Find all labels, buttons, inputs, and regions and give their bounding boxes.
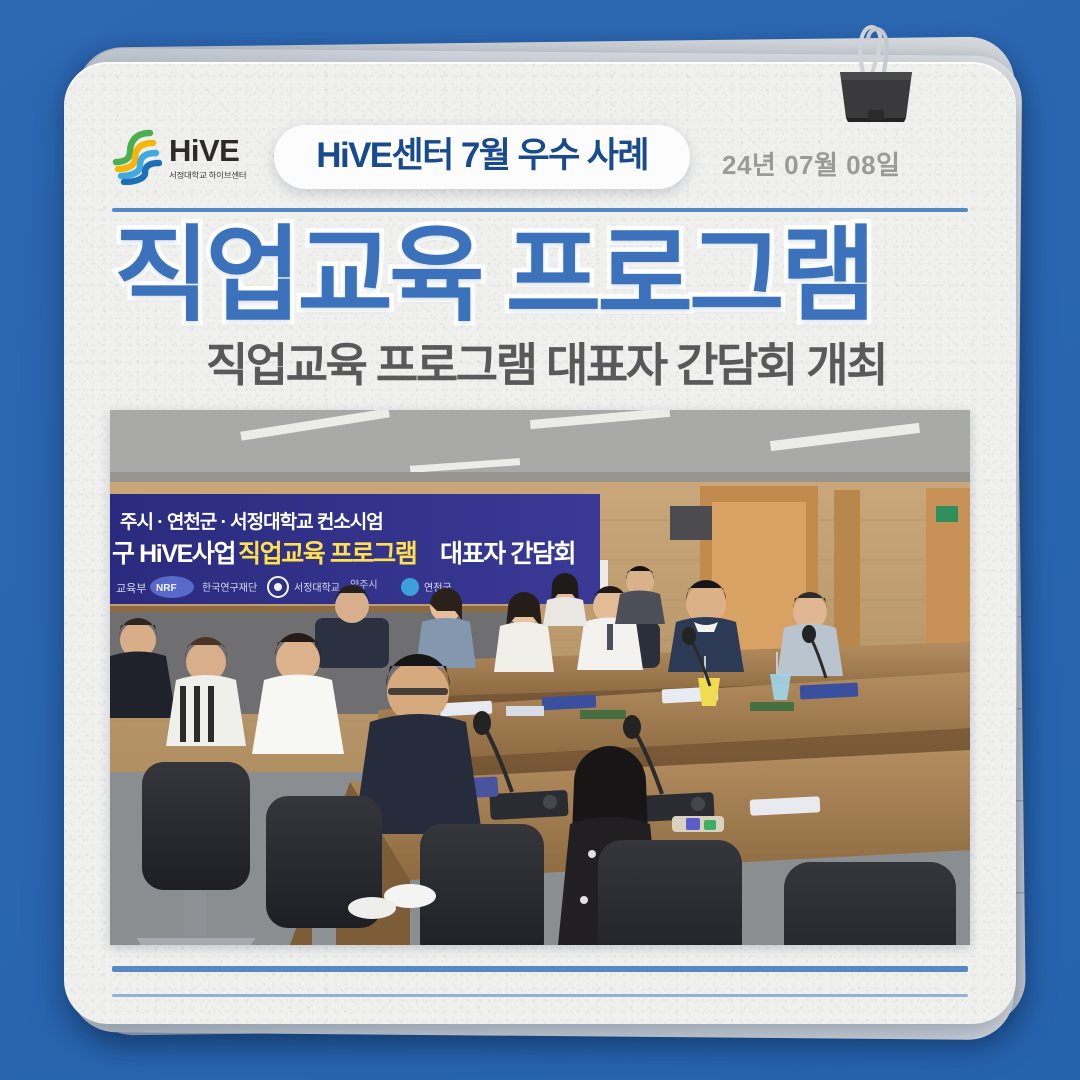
page-title: 직업교육 프로그램 xyxy=(114,220,974,332)
svg-text:한국연구재단: 한국연구재단 xyxy=(202,582,257,594)
poster-header: HiVE 서정대학교 하이브센터 HiVE센터 7월 우수 사례 24년 07월… xyxy=(110,114,970,200)
divider-bottom-thin xyxy=(112,994,968,997)
page-subtitle: 직업교육 프로그램 대표자 간담회 개최 xyxy=(116,340,976,391)
event-photo: 주시 · 연천군 · 서정대학교 컨소시엄 구 HiVE사업 직업교육 프로그램… xyxy=(110,410,970,945)
hive-swoosh-logo-icon xyxy=(110,129,162,185)
divider-top xyxy=(112,208,968,212)
svg-text:서정대학교: 서정대학교 xyxy=(294,582,340,594)
svg-text:교육부: 교육부 xyxy=(116,582,146,595)
event-photo-illustration: 주시 · 연천군 · 서정대학교 컨소시엄 구 HiVE사업 직업교육 프로그램… xyxy=(110,410,970,945)
poster-card: HiVE 서정대학교 하이브센터 HiVE센터 7월 우수 사례 24년 07월… xyxy=(64,62,1016,1024)
binder-clip-icon xyxy=(822,18,930,126)
hive-logo: HiVE 서정대학교 하이브센터 xyxy=(110,129,246,185)
svg-text:구 HiVE사업: 구 HiVE사업 xyxy=(112,540,235,568)
svg-text:대표자 간담회: 대표자 간담회 xyxy=(440,540,575,568)
logo-subtext: 서정대학교 하이브센터 xyxy=(169,169,246,180)
publish-date: 24년 07월 08일 xyxy=(722,145,900,182)
svg-text:주시 · 연천군 · 서정대학교 컨소시엄: 주시 · 연천군 · 서정대학교 컨소시엄 xyxy=(120,511,383,533)
highlight-badge[interactable]: HiVE센터 7월 우수 사례 xyxy=(274,125,690,189)
logo-wordmark: HiVE xyxy=(169,135,239,166)
poster-stage: HiVE 서정대학교 하이브센터 HiVE센터 7월 우수 사례 24년 07월… xyxy=(0,0,1080,1080)
highlight-badge-label: HiVE센터 7월 우수 사례 xyxy=(316,136,648,175)
svg-text:NRF: NRF xyxy=(156,583,177,594)
svg-text:직업교육 프로그램: 직업교육 프로그램 xyxy=(238,540,416,568)
divider-bottom-thick xyxy=(112,966,968,972)
